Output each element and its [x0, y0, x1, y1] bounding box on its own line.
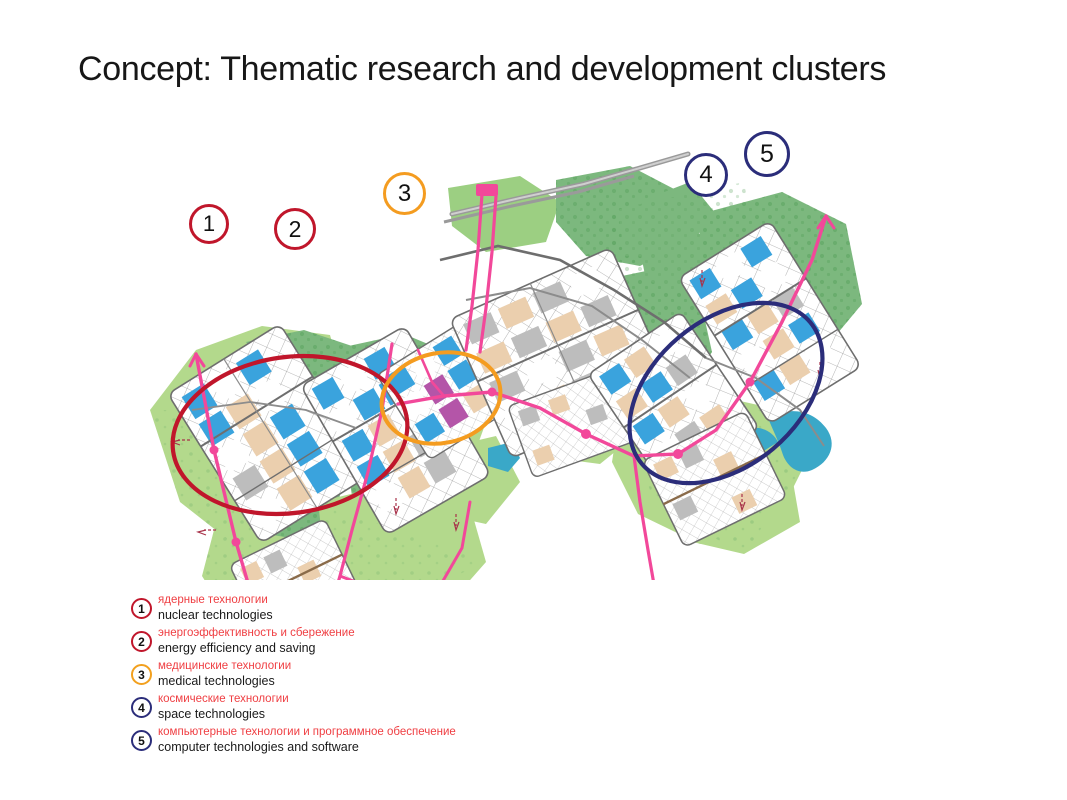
legend-label-ru-1: ядерные технологии	[158, 593, 273, 608]
legend-label-en-2: energy efficiency and saving	[158, 641, 355, 656]
legend-text-group-4: космические технологии space technologie…	[158, 691, 289, 722]
map-marker-4[interactable]: 4	[684, 153, 728, 197]
pink-road-north-head	[476, 184, 498, 196]
legend-text-group-2: энергоэффективность и сбережение energy …	[158, 625, 355, 656]
legend-label-ru-2: энергоэффективность и сбережение	[158, 626, 355, 641]
legend-badge-3: 3	[131, 664, 152, 685]
legend-item-1[interactable]: 1 ядерные технологии nuclear technologie…	[131, 592, 551, 625]
map-marker-5[interactable]: 5	[744, 131, 790, 177]
map-marker-1[interactable]: 1	[189, 204, 229, 244]
legend-label-en-3: medical technologies	[158, 674, 291, 689]
map-marker-2-label: 2	[289, 216, 302, 242]
map-marker-5-label: 5	[760, 140, 774, 168]
legend-text-group-1: ядерные технологии nuclear technologies	[158, 592, 273, 623]
legend-item-4[interactable]: 4 космические технологии space technolog…	[131, 691, 551, 724]
pink-node-artery-c	[673, 449, 683, 459]
masterplan-map: 1 2 3 4 5	[0, 110, 1067, 580]
pink-node-artery-b	[581, 429, 591, 439]
legend-text-group-3: медицинские технологии medical technolog…	[158, 658, 291, 689]
pink-node-artery-a	[488, 388, 497, 397]
legend-label-en-5: computer technologies and software	[158, 740, 456, 755]
legend-text-group-5: компьютерные технологии и программное об…	[158, 724, 456, 755]
legend: 1 ядерные технологии nuclear technologie…	[131, 592, 551, 757]
legend-label-ru-5: компьютерные технологии и программное об…	[158, 725, 456, 740]
legend-item-5[interactable]: 5 компьютерные технологии и программное …	[131, 724, 551, 757]
slide-canvas: Concept: Thematic research and developme…	[0, 0, 1067, 800]
map-marker-1-label: 1	[203, 211, 215, 236]
legend-label-en-4: space technologies	[158, 707, 289, 722]
page-title: Concept: Thematic research and developme…	[78, 50, 886, 89]
map-marker-3-label: 3	[398, 180, 411, 207]
legend-item-3[interactable]: 3 медицинские технологии medical technol…	[131, 658, 551, 691]
legend-label-ru-3: медицинские технологии	[158, 659, 291, 674]
legend-item-2[interactable]: 2 энергоэффективность и сбережение energ…	[131, 625, 551, 658]
map-marker-2[interactable]: 2	[274, 208, 316, 250]
map-marker-4-label: 4	[699, 161, 712, 188]
legend-label-ru-4: космические технологии	[158, 692, 289, 707]
pink-node-artery-d	[746, 378, 755, 387]
pink-node-west-b	[232, 538, 241, 547]
legend-badge-2: 2	[131, 631, 152, 652]
map-marker-3[interactable]: 3	[383, 172, 426, 215]
legend-badge-5: 5	[131, 730, 152, 751]
legend-label-en-1: nuclear technologies	[158, 608, 273, 623]
legend-badge-1: 1	[131, 598, 152, 619]
green-north-rail	[448, 176, 560, 252]
pink-node-west-a	[210, 446, 219, 455]
legend-badge-4: 4	[131, 697, 152, 718]
